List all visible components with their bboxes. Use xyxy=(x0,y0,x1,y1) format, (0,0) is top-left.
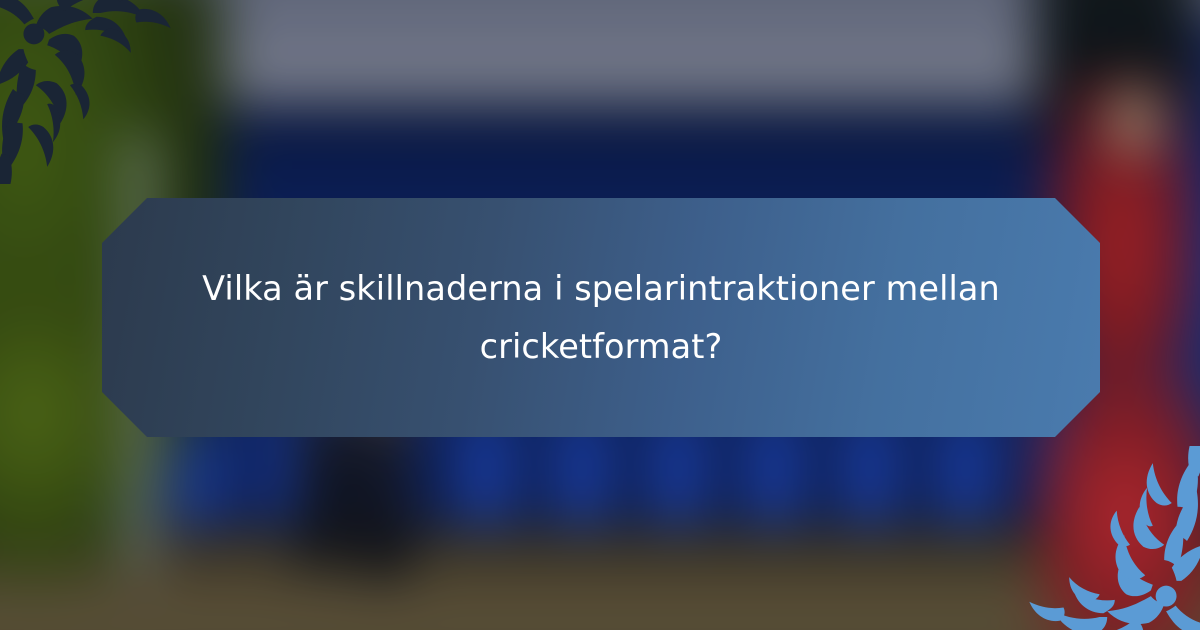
screenshot-stage: Vilka är skillnaderna i spelarintraktion… xyxy=(0,0,1200,630)
question-banner: Vilka är skillnaderna i spelarintraktion… xyxy=(102,198,1100,437)
question-title: Vilka är skillnaderna i spelarintraktion… xyxy=(156,260,1046,375)
